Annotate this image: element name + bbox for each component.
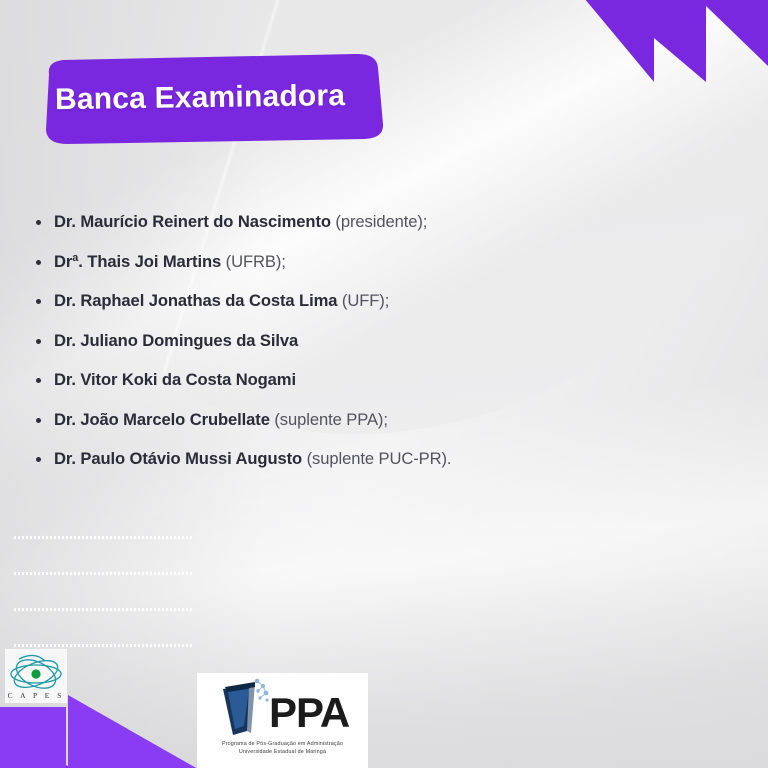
ppa-mark-icon: PPA	[197, 673, 368, 751]
member-name: Dr. Paulo Otávio Mussi Augusto	[54, 449, 302, 468]
member-affiliation: (suplente PPA);	[270, 410, 388, 429]
member-name: Dr. João Marcelo Crubellate	[54, 410, 270, 429]
capes-logo: C A P E S	[5, 649, 67, 703]
member-name: Drª. Thais Joi Martins	[54, 252, 221, 271]
member-name: Dr. Maurício Reinert do Nascimento	[54, 212, 331, 231]
list-item: Drª. Thais Joi Martins (UFRB);	[30, 252, 690, 271]
signature-line-4	[14, 644, 194, 647]
title-banner: Banca Examinadora	[33, 52, 385, 144]
ppa-tagline-line-1: Programa de Pós-Graduação em Administraç…	[197, 741, 368, 748]
signature-line-2	[14, 572, 194, 575]
examination-board-list: Dr. Maurício Reinert do Nascimento (pres…	[30, 212, 690, 489]
member-affiliation: (presidente);	[331, 212, 427, 231]
page-title: Banca Examinadora	[32, 50, 385, 147]
list-item: Dr. João Marcelo Crubellate (suplente PP…	[30, 410, 690, 429]
list-item: Dr. Maurício Reinert do Nascimento (pres…	[30, 212, 690, 231]
member-affiliation: (UFF);	[337, 291, 389, 310]
list-item: Dr. Raphael Jonathas da Costa Lima (UFF)…	[30, 291, 690, 310]
member-affiliation: (suplente PUC-PR).	[302, 449, 451, 468]
ppa-logo: PPA Programa de Pós-Graduação em Adminis…	[197, 673, 368, 768]
list-item: Dr. Vitor Koki da Costa Nogami	[30, 370, 690, 389]
list-item: Dr. Paulo Otávio Mussi Augusto (suplente…	[30, 449, 690, 468]
capes-wordmark: C A P E S	[5, 691, 67, 700]
member-name: Dr. Vitor Koki da Costa Nogami	[54, 370, 296, 389]
member-name: Dr. Juliano Domingues da Silva	[54, 331, 298, 350]
list-item: Dr. Juliano Domingues da Silva	[30, 331, 690, 350]
member-name: Dr. Raphael Jonathas da Costa Lima	[54, 291, 337, 310]
member-affiliation: (UFRB);	[221, 252, 286, 271]
svg-text:PPA: PPA	[269, 689, 350, 736]
signature-line-1	[14, 536, 194, 539]
signature-line-3	[14, 608, 194, 611]
ppa-tagline: Programa de Pós-Graduação em Administraç…	[197, 741, 368, 756]
ppa-tagline-line-2: Universidade Estadual de Maringá	[197, 749, 368, 756]
purple-zigzag-top-right-shape	[556, 0, 768, 82]
slide-canvas: Banca Examinadora Dr. Maurício Reinert d…	[0, 0, 768, 768]
